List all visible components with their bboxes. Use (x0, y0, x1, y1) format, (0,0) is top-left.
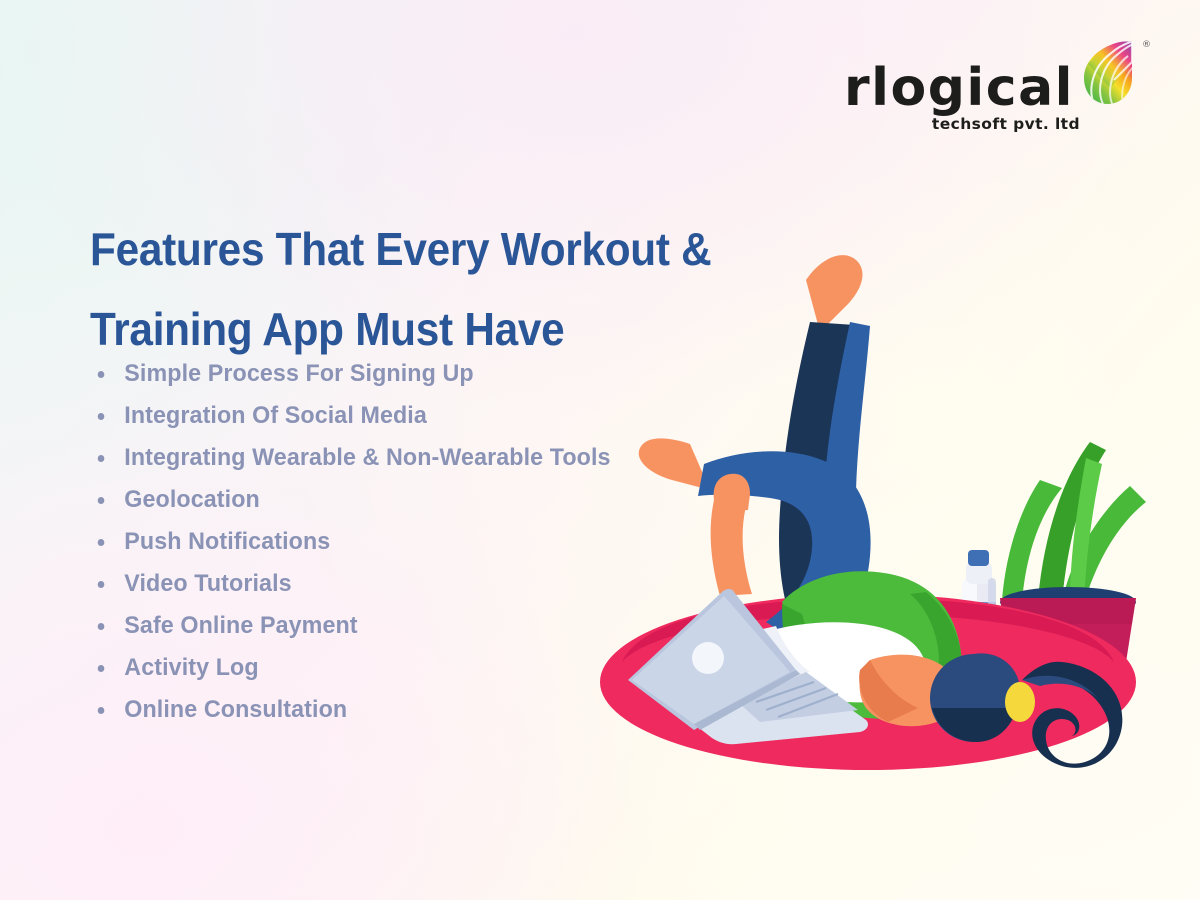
list-item-label: Activity Log (124, 654, 258, 681)
bullet-icon (98, 623, 105, 630)
list-item-label: Online Consultation (124, 696, 347, 723)
poster-canvas: rlogical (0, 0, 1200, 900)
list-item: Activity Log (92, 652, 624, 684)
list-item: Online Consultation (92, 694, 624, 726)
list-item: Push Notifications (92, 526, 624, 558)
bullet-icon (98, 539, 105, 546)
list-item-label: Push Notifications (124, 528, 330, 555)
logo-tagline: techsoft pvt. ltd (872, 115, 1142, 133)
list-item: Simple Process For Signing Up (92, 358, 624, 390)
rlogical-leaf-mark-icon: ® (1080, 38, 1142, 106)
bullet-icon (98, 413, 105, 420)
feature-list: Simple Process For Signing Up Integratio… (92, 358, 652, 736)
bullet-icon (98, 371, 105, 378)
bullet-icon (98, 455, 105, 462)
logo-row: rlogical (872, 38, 1142, 113)
hero-illustration (570, 210, 1170, 830)
registered-trademark-icon: ® (1142, 40, 1151, 50)
list-item-label: Simple Process For Signing Up (124, 360, 473, 387)
list-item-label: Integrating Wearable & Non-Wearable Tool… (124, 444, 610, 471)
list-item-label: Geolocation (124, 486, 260, 513)
bullet-icon (98, 581, 105, 588)
list-item: Safe Online Payment (92, 610, 624, 642)
list-item: Integration Of Social Media (92, 400, 624, 432)
list-item-label: Safe Online Payment (124, 612, 357, 639)
list-item: Geolocation (92, 484, 624, 516)
logo-wordmark: rlogical (844, 64, 1074, 113)
list-item-label: Video Tutorials (124, 570, 291, 597)
list-item: Video Tutorials (92, 568, 624, 600)
bullet-icon (98, 707, 105, 714)
list-item-label: Integration Of Social Media (124, 402, 427, 429)
bullet-icon (98, 665, 105, 672)
bullet-icon (98, 497, 105, 504)
list-item: Integrating Wearable & Non-Wearable Tool… (92, 442, 624, 474)
brand-logo[interactable]: rlogical (872, 38, 1142, 133)
